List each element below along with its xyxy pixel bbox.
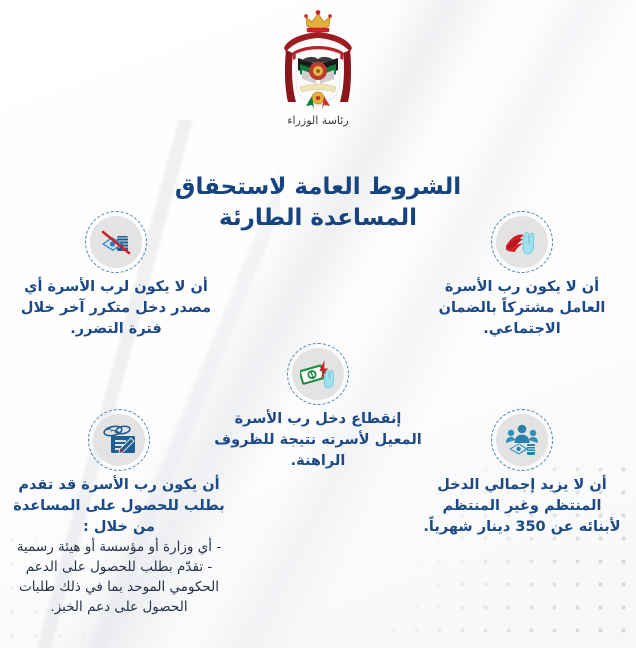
emblem-caption: رئاسة الوزراء (287, 114, 348, 127)
condition-text: إنقطاع دخل رب الأسرة المعيل لأسرته نتيجة… (212, 409, 424, 472)
icon-disc (292, 348, 344, 400)
icon-holder (422, 414, 622, 466)
condition-text: أن لا يكون لرب الأسرة أي مصدر دخل متكرر … (16, 277, 216, 340)
icon-disc (90, 216, 142, 268)
icon-badge (93, 414, 145, 466)
infographic-page: رئاسة الوزراء الشروط العامة لاستحقاق الم… (0, 0, 636, 648)
bread-application-form-icon (101, 423, 137, 457)
icon-badge (90, 216, 142, 268)
condition-bullet-2: - تقدّم بطلب للحصول على الدعم الحكومي ال… (6, 558, 232, 618)
icon-badge (292, 348, 344, 400)
condition-text: أن يكون رب الأسرة قد تقدم بطلب للحصول عل… (6, 475, 232, 538)
social-security-hands-icon (504, 226, 540, 258)
title-line-1: الشروط العامة لاستحقاق (0, 172, 636, 203)
condition-bullet-1: - أي وزارة أو مؤسسة أو هيئة رسمية (6, 538, 232, 558)
icon-disc (93, 414, 145, 466)
condition-no-other-recurring-income: أن لا يكون لرب الأسرة أي مصدر دخل متكرر … (16, 216, 216, 340)
condition-applied-for-assistance: أن يكون رب الأسرة قد تقدم بطلب للحصول عل… (6, 414, 232, 618)
icon-holder (16, 216, 216, 268)
condition-text: أن لا يكون رب الأسرة العامل مشتركاً بالض… (424, 277, 620, 340)
icon-disc (496, 216, 548, 268)
icon-badge (496, 216, 548, 268)
icon-badge (496, 414, 548, 466)
condition-income-interrupted: إنقطاع دخل رب الأسرة المعيل لأسرته نتيجة… (212, 348, 424, 472)
condition-income-cap: أن لا يزيد إجمالي الدخل المنتظم وغير الم… (422, 414, 622, 538)
header-emblem-block: رئاسة الوزراء (0, 8, 636, 127)
jordan-coat-of-arms-icon (266, 8, 370, 112)
family-income-icon (504, 423, 540, 457)
icon-holder (212, 348, 424, 400)
condition-not-social-security-subscriber: أن لا يكون رب الأسرة العامل مشتركاً بالض… (424, 216, 620, 340)
icon-holder (6, 414, 232, 466)
money-blocked-icon (99, 226, 133, 258)
banknote-lightning-hand-icon (300, 358, 336, 390)
condition-text: أن لا يزيد إجمالي الدخل المنتظم وغير الم… (422, 475, 622, 538)
icon-holder (424, 216, 620, 268)
icon-disc (496, 414, 548, 466)
